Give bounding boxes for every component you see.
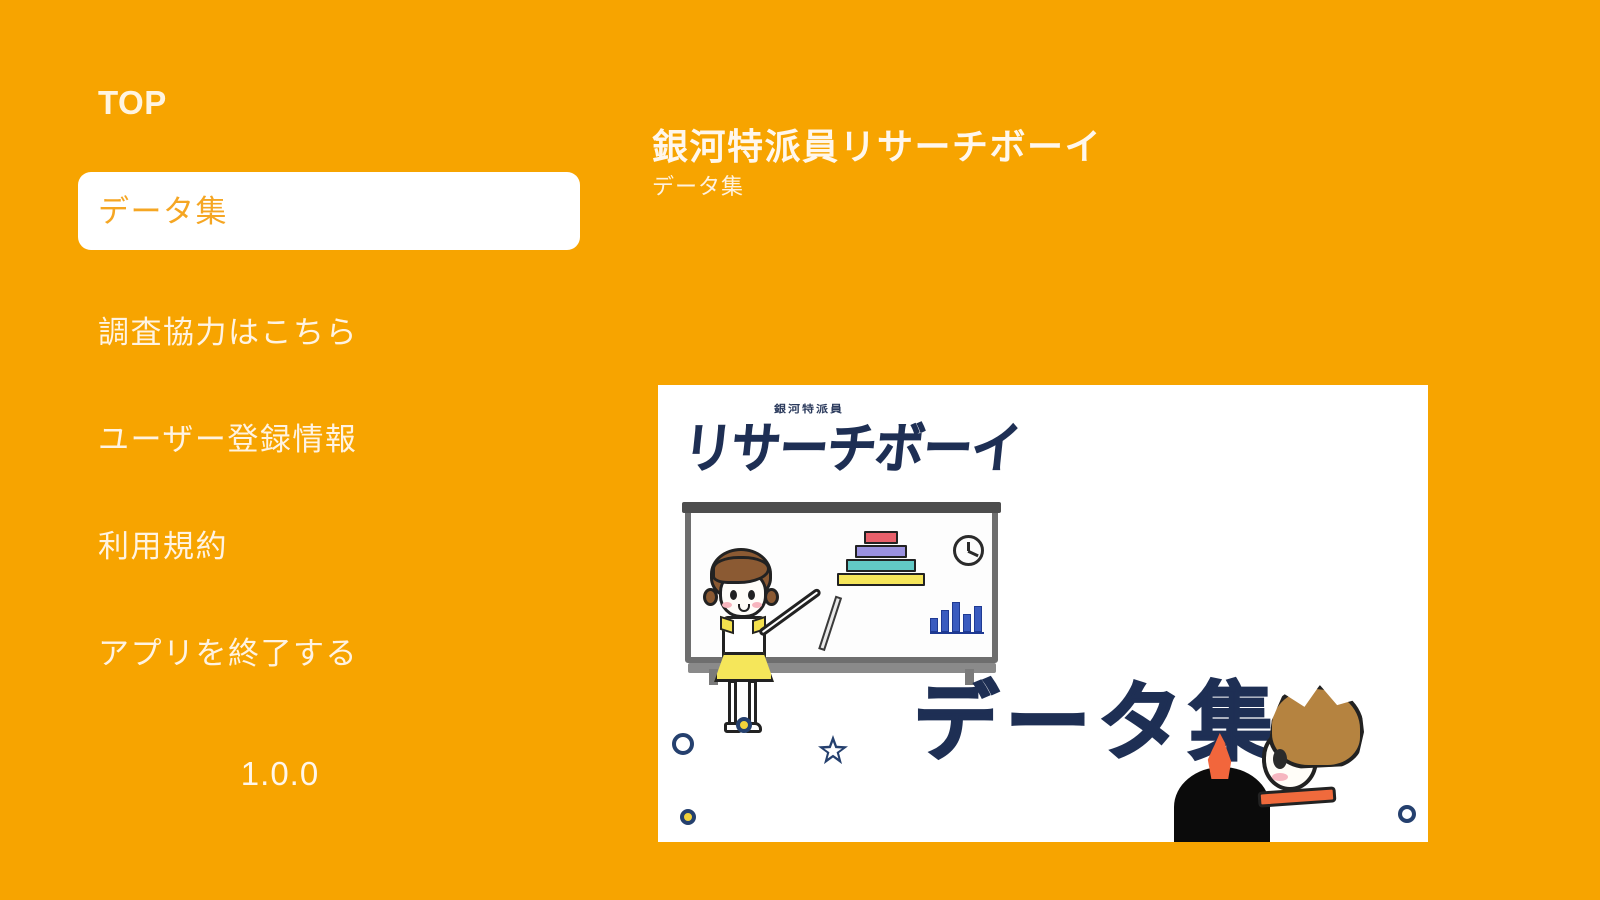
page-title: 銀河特派員リサーチボーイ [652, 126, 1102, 167]
girl-eye-right [748, 590, 755, 600]
girl-bun-left [703, 588, 718, 606]
sidebar-item-label: 調査協力はこちら [0, 317, 358, 348]
decorative-dot-1 [736, 717, 752, 733]
sidebar-item-label: アプリを終了する [0, 638, 358, 669]
girl-eye-left [730, 590, 737, 600]
bar-1 [930, 618, 938, 632]
pyramid-layer-4 [837, 573, 925, 586]
sidebar-item-top-label: TOP [98, 84, 167, 121]
clock-minute-hand [968, 550, 979, 557]
bar-5 [974, 606, 982, 632]
sidebar: TOP データ集 調査協力はこちら ユーザー登録情報 利用規約 アプリを終了する… [0, 0, 620, 900]
decorative-dot-2 [680, 809, 696, 825]
sidebar-item-label: ユーザー登録情報 [0, 424, 357, 455]
sidebar-item-top[interactable]: TOP [98, 86, 167, 119]
brand-logo-wordmark: リサーチボーイ [680, 405, 1024, 483]
boy-scarf [1258, 786, 1337, 807]
clock-icon [953, 535, 984, 566]
sidebar-item-user-registration-info[interactable]: ユーザー登録情報 [0, 386, 620, 493]
page-subtitle: データ集 [652, 176, 1102, 198]
card-illustration: 銀河特派員 リサーチボーイ [658, 385, 1428, 842]
bar-3 [952, 602, 960, 632]
girl-cheek-right [752, 602, 762, 608]
bar-2 [941, 610, 949, 632]
boy-reporter-illustration [1254, 685, 1404, 842]
boy-eye [1273, 749, 1287, 769]
app-version: 1.0.0 [0, 755, 620, 793]
decorative-ring-1 [672, 733, 694, 755]
sidebar-nav-list: データ集 調査協力はこちら ユーザー登録情報 利用規約 アプリを終了する [0, 172, 620, 707]
sidebar-item-label: 利用規約 [0, 531, 228, 562]
bar-chart-icon [930, 600, 984, 634]
pyramid-layer-3 [846, 559, 916, 572]
sidebar-item-terms-of-use[interactable]: 利用規約 [0, 493, 620, 600]
boy-cheek [1272, 773, 1288, 781]
pyramid-layer-1 [864, 531, 898, 544]
pyramid-layer-2 [855, 545, 907, 558]
sidebar-item-survey-cooperation[interactable]: 調査協力はこちら [0, 279, 620, 386]
whiteboard-top-rail [682, 502, 1001, 513]
page-header: 銀河特派員リサーチボーイ データ集 [652, 126, 1102, 198]
bar-4 [963, 614, 971, 632]
app-version-label: 1.0.0 [241, 755, 319, 792]
girl-cheek-left [722, 602, 732, 608]
decorative-star [818, 735, 848, 765]
girl-leg-left [728, 680, 737, 726]
pyramid-chart-icon [837, 531, 925, 587]
content-card[interactable]: 銀河特派員 リサーチボーイ [658, 385, 1428, 842]
girl-bun-right [764, 588, 779, 606]
sidebar-item-data-collection[interactable]: データ集 [0, 172, 620, 250]
girl-presenter-illustration [700, 548, 820, 738]
sidebar-item-exit-app[interactable]: アプリを終了する [0, 600, 620, 707]
sidebar-item-label: データ集 [0, 196, 228, 227]
